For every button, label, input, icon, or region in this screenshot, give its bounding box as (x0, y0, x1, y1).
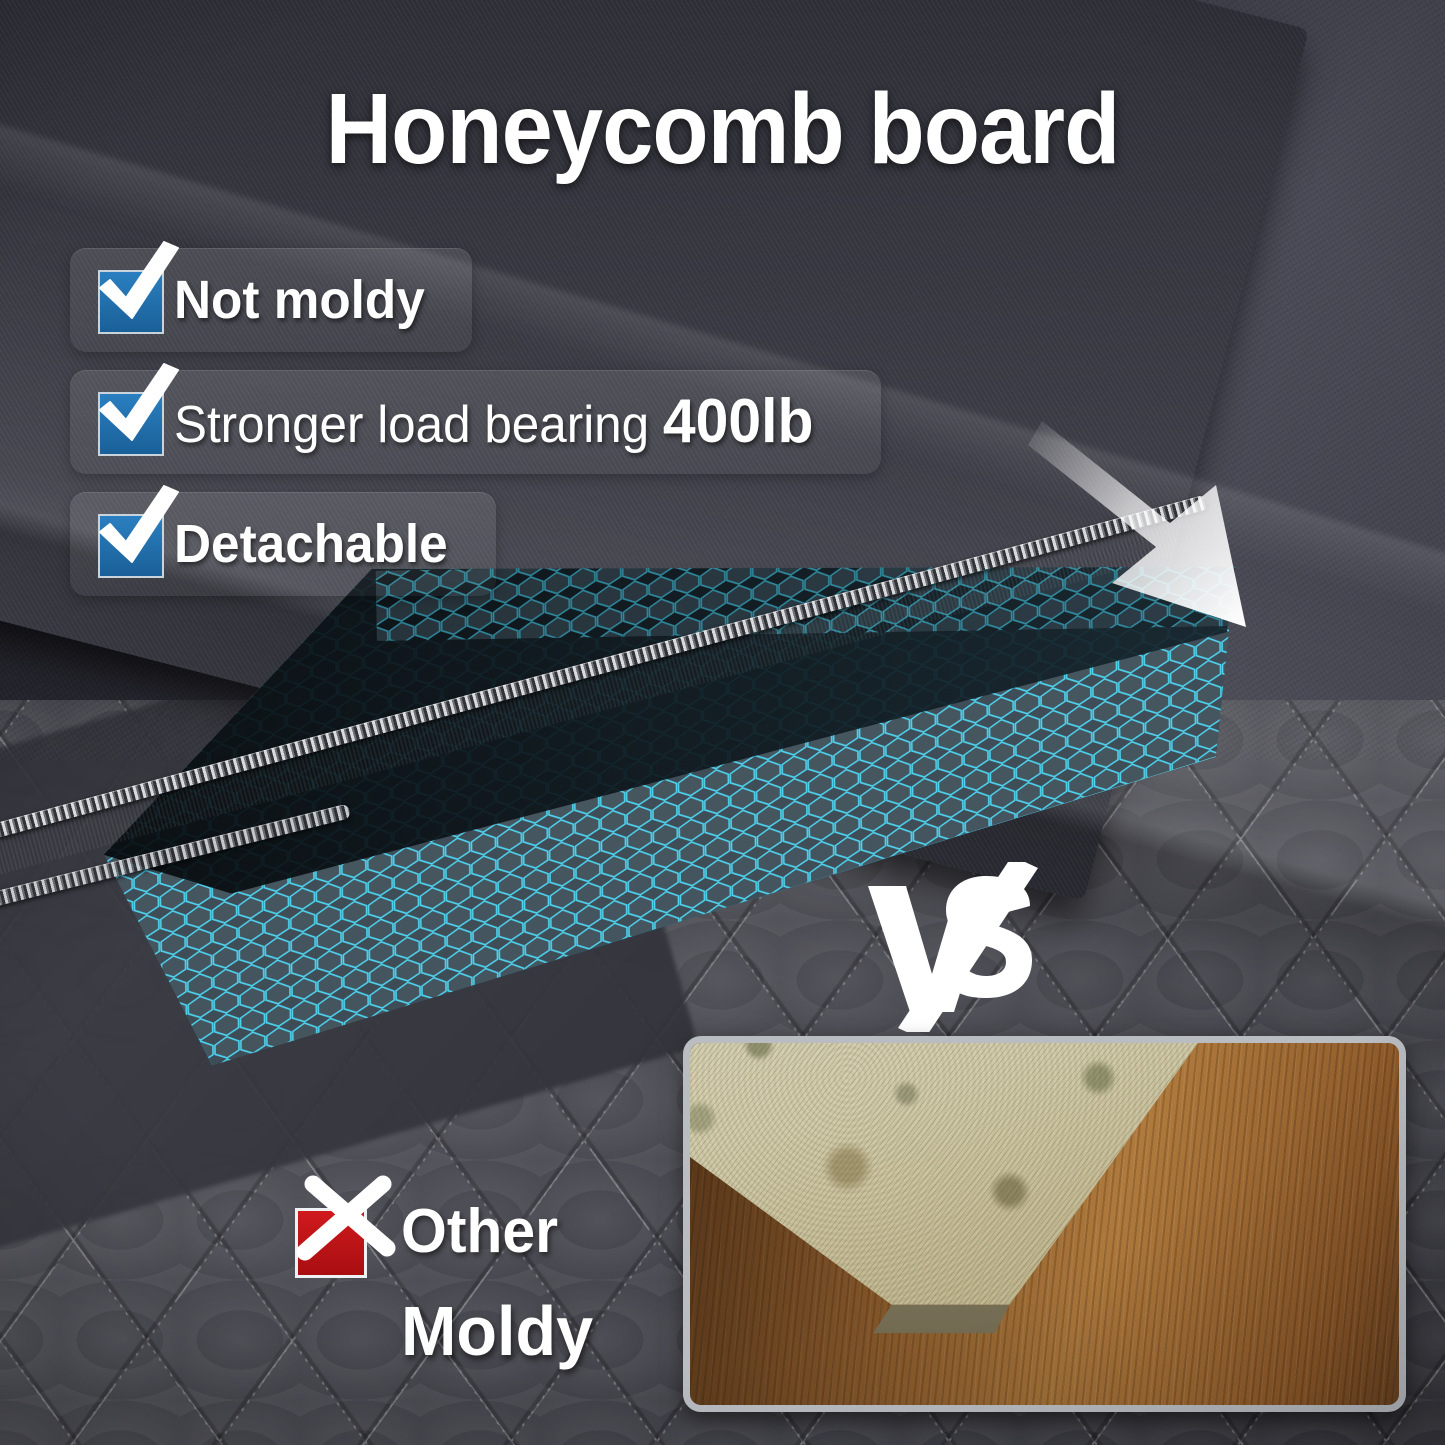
moldy-board-photo (683, 1036, 1406, 1412)
product-infographic: Honeycomb board Not moldy Stronger load … (0, 0, 1445, 1445)
other-label: Other (401, 1201, 558, 1263)
cross-mark-icon (291, 1168, 403, 1280)
moldy-label: Moldy (401, 1296, 699, 1366)
check-mark-icon (88, 362, 184, 458)
other-row: Other (285, 1190, 715, 1274)
versus-badge (862, 862, 1052, 1032)
feature-row-load-bearing: Stronger load bearing 400lb (70, 370, 881, 474)
feature-label-text: Stronger load bearing (174, 396, 649, 454)
feature-row-detachable: Detachable (70, 492, 496, 596)
page-title: Honeycomb board (58, 72, 1387, 187)
check-mark-icon (88, 240, 184, 336)
checkbox-checked-icon (70, 248, 174, 352)
feature-label: Stronger load bearing 400lb (174, 391, 813, 453)
feature-row-not-moldy: Not moldy (70, 248, 472, 352)
feature-list: Not moldy Stronger load bearing 400lb (70, 248, 881, 614)
checkbox-checked-icon (70, 492, 174, 596)
negative-comparison-block: Other Moldy (285, 1190, 715, 1366)
checkbox-checked-icon (70, 370, 174, 474)
feature-label: Not moldy (174, 273, 425, 327)
detach-arrow-icon (1020, 415, 1370, 675)
feature-label-value: 400lb (663, 387, 814, 456)
feature-label: Detachable (174, 517, 448, 571)
x-mark-icon (285, 1190, 375, 1274)
check-mark-icon (88, 484, 184, 580)
